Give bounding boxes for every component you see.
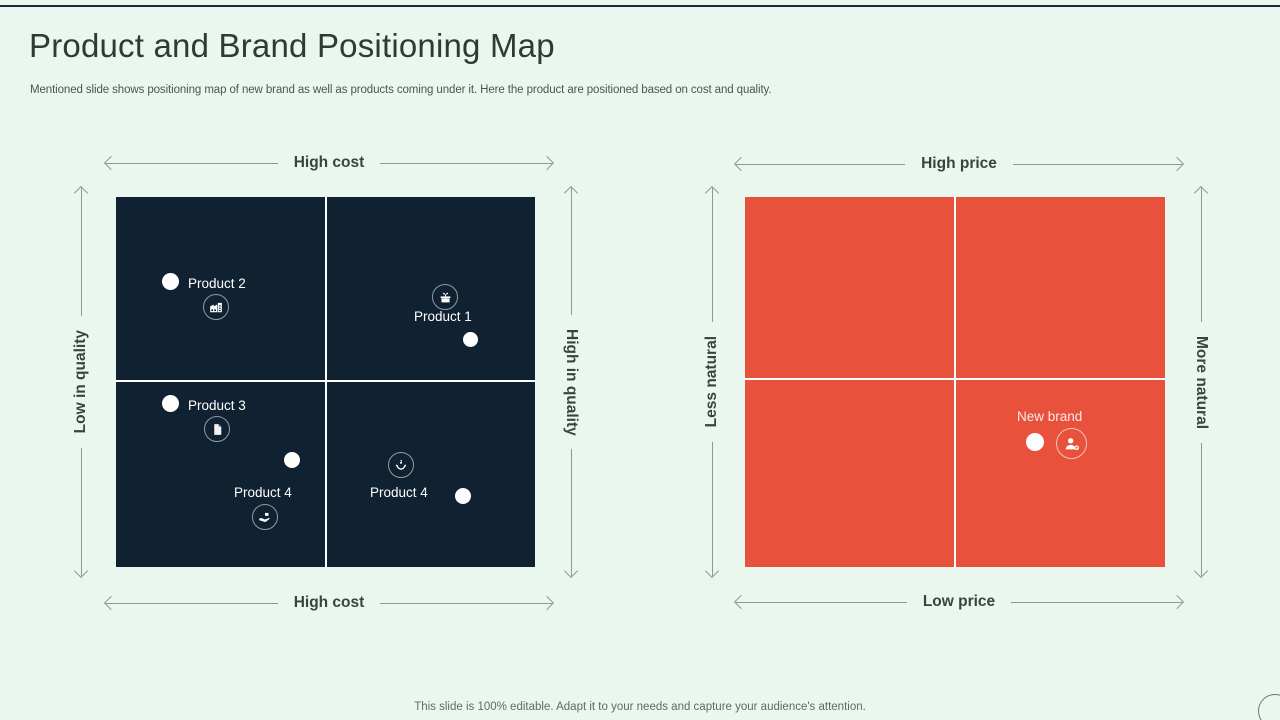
marker-dot[interactable] — [1026, 433, 1044, 451]
axis-arrow-down — [571, 449, 572, 576]
product-positioning-matrix[interactable]: Product 2 Product 1 Product 3 — [116, 197, 535, 567]
node-label-product-4-left: Product 4 — [234, 485, 292, 500]
marker-dot[interactable] — [455, 488, 471, 504]
left-chart-bottom-axis: High cost — [106, 593, 552, 613]
right-chart-right-axis: More natural — [1190, 188, 1212, 576]
marker-dot[interactable] — [162, 395, 179, 412]
user-add-icon[interactable] — [1056, 428, 1087, 459]
marker-dot[interactable] — [162, 273, 179, 290]
matrix-vertical-divider — [954, 197, 956, 567]
node-label-product-2: Product 2 — [188, 276, 246, 291]
axis-arrow-right — [1013, 164, 1182, 165]
left-chart-right-axis: High in quality — [560, 188, 582, 576]
axis-arrow-left — [106, 163, 278, 164]
matrix-vertical-divider — [325, 197, 327, 567]
axis-arrow-right — [380, 603, 552, 604]
axis-arrow-down — [81, 448, 82, 576]
axis-arrow-up — [1201, 188, 1202, 322]
corner-decoration-circle — [1258, 694, 1280, 720]
factory-building-icon[interactable] — [203, 294, 229, 320]
right-chart-left-axis: Less natural — [701, 188, 723, 576]
top-divider-rule — [0, 5, 1280, 7]
footer-note: This slide is 100% editable. Adapt it to… — [0, 701, 1280, 713]
marker-dot[interactable] — [463, 332, 478, 347]
axis-arrow-right — [1011, 602, 1182, 603]
right-chart-bottom-axis-label: Low price — [907, 593, 1011, 611]
marker-dot[interactable] — [284, 452, 300, 468]
node-label-new-brand: New brand — [1017, 409, 1082, 424]
page-title: Product and Brand Positioning Map — [29, 27, 555, 65]
right-chart-top-axis-label: High price — [905, 155, 1013, 173]
axis-arrow-left — [736, 602, 907, 603]
hand-holding-box-icon[interactable] — [252, 504, 278, 530]
node-label-product-4-right: Product 4 — [370, 485, 428, 500]
right-chart-right-axis-label: More natural — [1192, 322, 1210, 443]
gift-box-icon[interactable] — [432, 284, 458, 310]
axis-arrow-down — [712, 442, 713, 576]
axis-arrow-left — [736, 164, 905, 165]
left-chart-right-axis-label: High in quality — [562, 315, 580, 450]
right-chart-left-axis-label: Less natural — [703, 322, 721, 441]
hands-holding-plant-icon[interactable] — [388, 452, 414, 478]
axis-arrow-up — [712, 188, 713, 322]
right-chart-top-axis: High price — [736, 154, 1182, 174]
node-label-product-3: Product 3 — [188, 398, 246, 413]
matrix-horizontal-divider — [116, 380, 535, 382]
node-label-product-1: Product 1 — [414, 309, 472, 324]
axis-arrow-down — [1201, 443, 1202, 577]
left-chart-top-axis-label: High cost — [278, 154, 381, 172]
axis-arrow-up — [571, 188, 572, 315]
axis-arrow-up — [81, 188, 82, 316]
right-chart-bottom-axis: Low price — [736, 592, 1182, 612]
axis-arrow-left — [106, 603, 278, 604]
page-subtitle: Mentioned slide shows positioning map of… — [30, 84, 771, 96]
document-file-icon[interactable] — [204, 416, 230, 442]
slide-root: Product and Brand Positioning Map Mentio… — [0, 0, 1280, 720]
left-chart-left-axis-label: Low in quality — [72, 316, 90, 447]
brand-positioning-matrix[interactable]: New brand — [745, 197, 1165, 567]
left-chart-bottom-axis-label: High cost — [278, 594, 381, 612]
left-chart-top-axis: High cost — [106, 153, 552, 173]
axis-arrow-right — [380, 163, 552, 164]
left-chart-left-axis: Low in quality — [70, 188, 92, 576]
matrix-horizontal-divider — [745, 378, 1165, 380]
